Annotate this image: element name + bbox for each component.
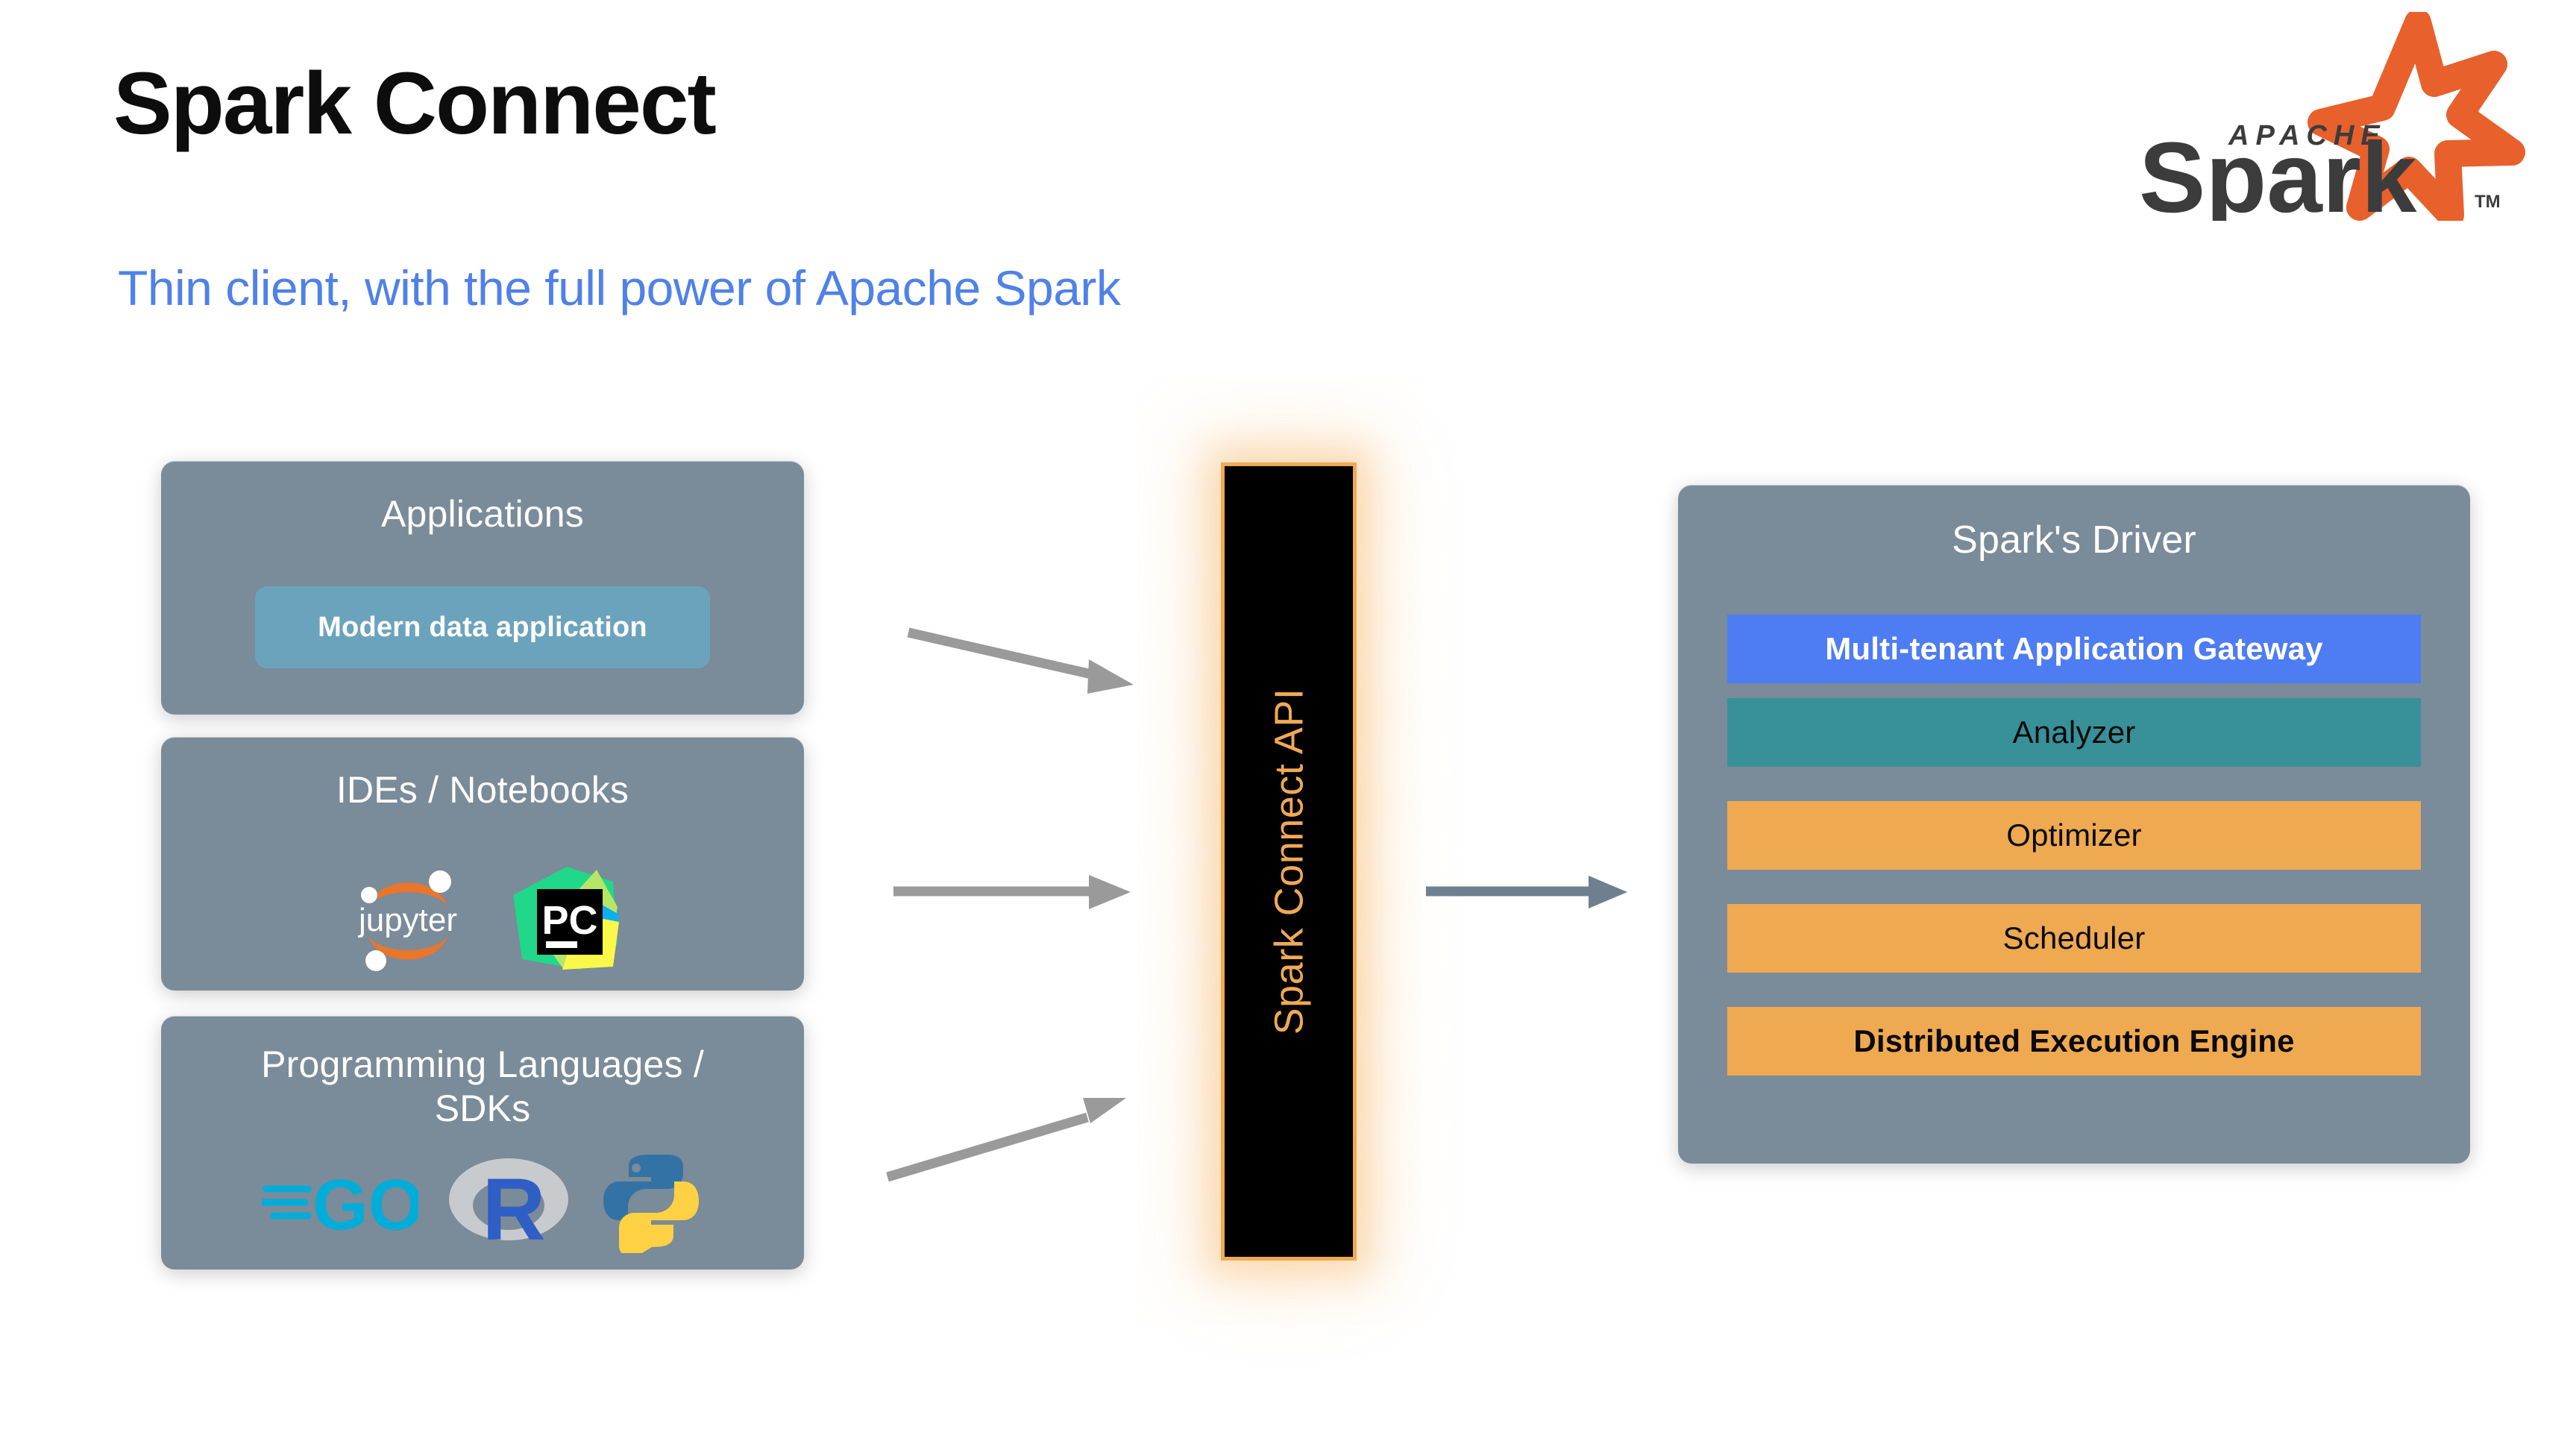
- spark-connect-api-label: Spark Connect API: [1266, 688, 1312, 1035]
- panel-languages-title-line2: SDKs: [161, 1087, 804, 1131]
- driver-row-analyzer[interactable]: Analyzer: [1727, 698, 2421, 767]
- jupyter-wordmark: jupyter: [357, 902, 457, 938]
- r-wordmark: R: [482, 1161, 545, 1253]
- panel-ides-notebooks[interactable]: IDEs / Notebooks jupyter PC: [161, 737, 804, 991]
- panel-languages-title-line1: Programming Languages /: [161, 1043, 804, 1087]
- pycharm-wordmark: PC: [541, 898, 597, 943]
- python-logo: [599, 1149, 703, 1253]
- panel-driver-title: Spark's Driver: [1678, 518, 2470, 562]
- arrow-applications-to-api: [908, 633, 1134, 694]
- slide-canvas: Spark Connect Thin client, with the full…: [0, 0, 2576, 1447]
- apache-spark-logo: APACHE Spark TM: [2123, 12, 2540, 221]
- spark-wordmark: Spark: [2139, 122, 2417, 221]
- go-speed-lines-icon: [262, 1189, 308, 1216]
- page-subtitle: Thin client, with the full power of Apac…: [118, 260, 1120, 316]
- r-logo: R: [445, 1149, 572, 1253]
- panel-languages-title: Programming Languages / SDKs: [161, 1043, 804, 1131]
- panel-ides-title: IDEs / Notebooks: [161, 768, 804, 812]
- panel-programming-languages[interactable]: Programming Languages / SDKs GO R: [161, 1016, 804, 1269]
- driver-row-optimizer[interactable]: Optimizer: [1727, 801, 2421, 870]
- pycharm-underscore-icon: [546, 941, 577, 948]
- go-logo: GO: [262, 1156, 418, 1246]
- trademark-mark: TM: [2475, 192, 2501, 212]
- ide-logo-row: jupyter PC: [161, 862, 804, 974]
- driver-row-distributed-execution-engine[interactable]: Distributed Execution Engine: [1727, 1007, 2421, 1076]
- panel-applications-title: Applications: [161, 492, 804, 536]
- modern-data-application-box[interactable]: Modern data application: [255, 586, 710, 668]
- arrow-ides-to-api: [893, 875, 1131, 909]
- panel-spark-driver[interactable]: Spark's Driver Multi-tenant Application …: [1678, 485, 2470, 1164]
- go-wordmark: GO: [312, 1165, 418, 1245]
- page-title: Spark Connect: [113, 58, 715, 151]
- arrow-languages-to-api: [888, 1098, 1126, 1177]
- driver-row-multi-tenant-application-gateway[interactable]: Multi-tenant Application Gateway: [1727, 615, 2421, 683]
- spark-connect-api-bar[interactable]: Spark Connect API: [1221, 462, 1357, 1261]
- arrow-api-to-driver: [1426, 876, 1627, 908]
- jupyter-logo: jupyter: [345, 862, 471, 974]
- language-logo-row: GO R: [161, 1149, 804, 1253]
- panel-applications[interactable]: Applications Modern data application: [161, 461, 804, 715]
- driver-row-scheduler[interactable]: Scheduler: [1727, 904, 2421, 973]
- pycharm-logo: PC: [509, 862, 621, 974]
